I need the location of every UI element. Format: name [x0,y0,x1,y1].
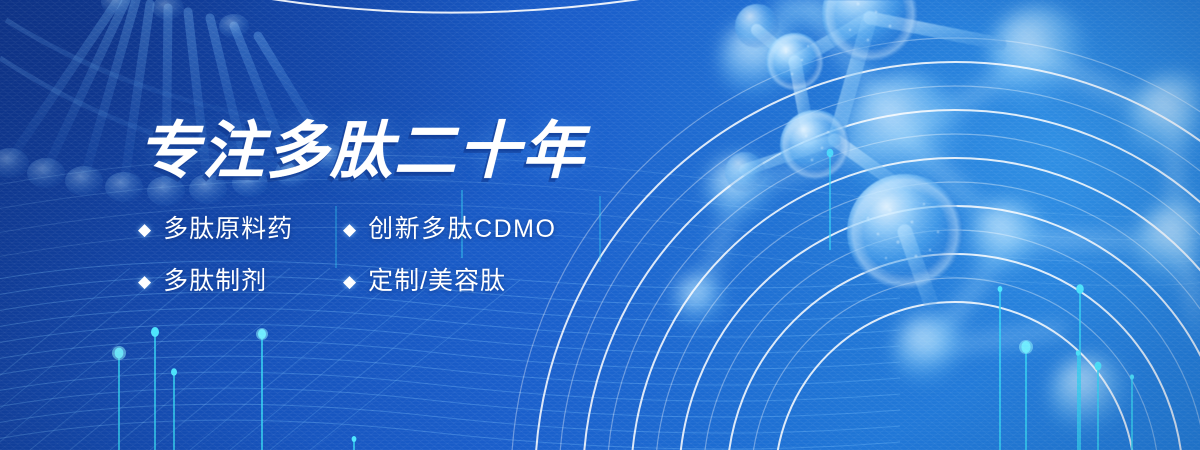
top-arcs [95,0,800,13]
pin-dots-glow [112,328,1033,360]
peptide-hero-banner: 专注多肽二十年 ◆ 多肽原料药 ◆ 创新多肽CDMO ◆ 多肽制剂 ◆ 定制/美… [0,0,1200,450]
list-item-custom-cosmetic-peptide[interactable]: ◆ 定制/美容肽 [343,266,758,296]
molecule-atoms-foreground [725,0,963,290]
list-item-peptide-api[interactable]: ◆ 多肽原料药 [138,214,343,244]
list-item-label: 多肽原料药 [163,214,293,244]
diamond-icon: ◆ [138,221,152,238]
page-title: 专注多肽二十年 [138,118,758,186]
molecule-bonds-foreground [745,18,1000,300]
feature-list: ◆ 多肽原料药 ◆ 创新多肽CDMO ◆ 多肽制剂 ◆ 定制/美容肽 [138,214,758,296]
molecule-bonds-background [700,0,1200,360]
banner-content: 专注多肽二十年 ◆ 多肽原料药 ◆ 创新多肽CDMO ◆ 多肽制剂 ◆ 定制/美… [138,118,758,296]
sphere-speckles [785,0,940,259]
list-item-peptide-formulation[interactable]: ◆ 多肽制剂 [138,266,343,296]
list-item-label: 定制/美容肽 [368,266,506,296]
list-item-label: 多肽制剂 [163,266,267,296]
diamond-icon: ◆ [343,273,357,290]
diamond-icon: ◆ [343,221,357,238]
list-item-label: 创新多肽CDMO [368,214,556,244]
diamond-icon: ◆ [138,273,152,290]
list-item-innovative-peptide-cdmo[interactable]: ◆ 创新多肽CDMO [343,214,758,244]
